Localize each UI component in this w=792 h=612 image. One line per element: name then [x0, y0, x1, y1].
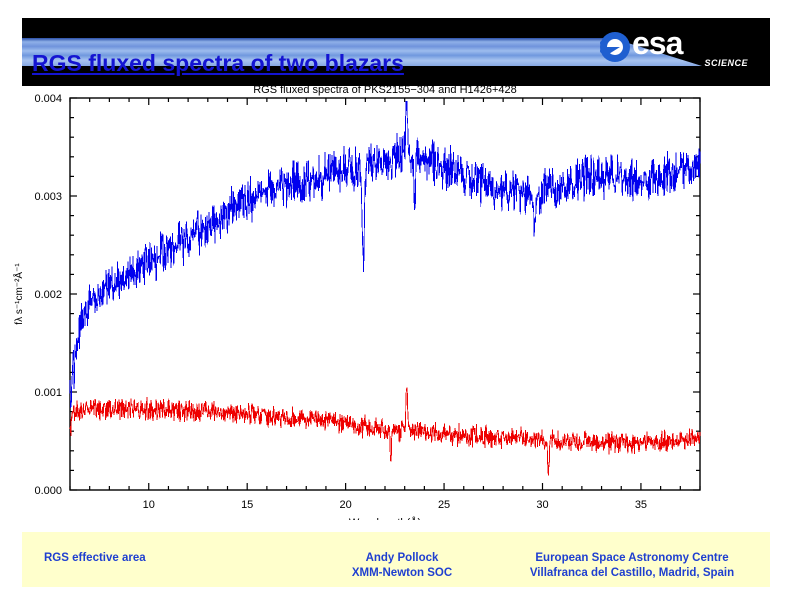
y-tick-label: 0.001 — [34, 387, 62, 399]
esa-wordmark: esa — [632, 26, 682, 60]
esa-science-subtitle: SCIENCE — [704, 58, 748, 68]
spectrum-plot-svg: RGS fluxed spectra of PKS2155−304 and H1… — [0, 80, 792, 520]
x-tick-label: 20 — [340, 499, 352, 511]
x-tick-label: 35 — [635, 499, 647, 511]
y-axis-label: fλ s⁻¹cm⁻²Å⁻¹ — [12, 263, 25, 325]
footer-author-name: Andy Pollock — [302, 551, 502, 566]
footer-institution-name: European Space Astronomy Centre — [502, 551, 762, 566]
esa-circle-icon — [598, 30, 632, 64]
chart-title: RGS fluxed spectra of PKS2155−304 and H1… — [253, 84, 517, 96]
slide-title: RGS fluxed spectra of two blazars — [32, 50, 404, 77]
x-tick-label: 10 — [143, 499, 155, 511]
spectrum-chart: RGS fluxed spectra of PKS2155−304 and H1… — [0, 80, 792, 520]
x-tick-label: 15 — [241, 499, 253, 511]
footer-institution-block: European Space Astronomy Centre Villafra… — [502, 551, 762, 581]
x-tick-label: 30 — [536, 499, 548, 511]
esa-logo: esa SCIENCE — [598, 26, 748, 76]
footer-author-block: Andy Pollock XMM-Newton SOC — [302, 551, 502, 581]
x-axis-label: Wavelength(Å) — [349, 516, 421, 520]
footer-author-affiliation: XMM-Newton SOC — [302, 566, 502, 581]
y-tick-label: 0.003 — [34, 191, 62, 203]
footer-institution-location: Villafranca del Castillo, Madrid, Spain — [502, 566, 762, 581]
y-tick-label: 0.002 — [34, 289, 62, 301]
spectrum-trace-pks2155-304 — [70, 101, 700, 408]
spectrum-trace-h1426-428 — [70, 388, 700, 476]
footer-topic-label: RGS effective area — [44, 551, 146, 566]
y-tick-label: 0.004 — [34, 93, 62, 105]
x-tick-label: 25 — [438, 499, 450, 511]
y-tick-label: 0.000 — [34, 485, 62, 497]
footer-panel: RGS effective area Andy Pollock XMM-Newt… — [22, 532, 770, 587]
